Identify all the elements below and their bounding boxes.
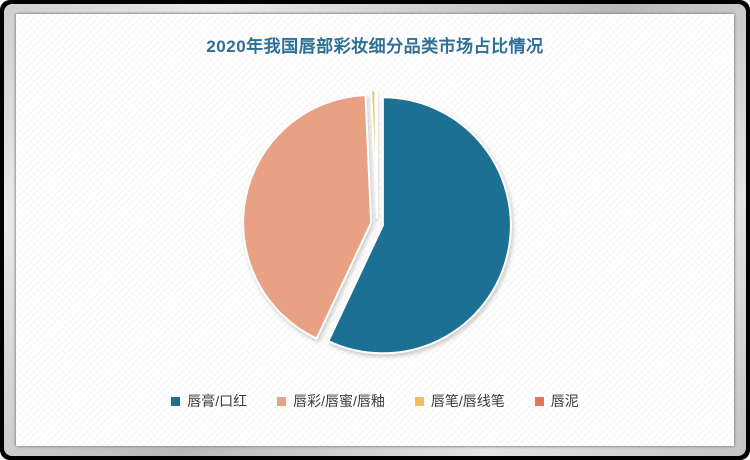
legend-swatch-icon (171, 397, 180, 406)
legend-swatch-icon (277, 397, 286, 406)
chart-legend: 唇膏/口红唇彩/唇蜜/唇釉唇笔/唇线笔唇泥 (16, 394, 734, 408)
chart-title: 2020年我国唇部彩妆细分品类市场占比情况 (16, 32, 734, 57)
legend-item-label: 唇膏/口红 (187, 394, 247, 408)
legend-swatch-icon (415, 397, 424, 406)
chart-canvas: 2020年我国唇部彩妆细分品类市场占比情况 唇膏/口红唇彩/唇蜜/唇釉唇笔/唇线… (16, 14, 734, 446)
legend-item-label: 唇笔/唇线笔 (431, 394, 505, 408)
pie-chart-area (16, 74, 734, 374)
legend-swatch-icon (535, 397, 544, 406)
legend-item-label: 唇彩/唇蜜/唇釉 (293, 394, 385, 408)
legend-item-label: 唇泥 (551, 394, 579, 408)
pie-chart-svg (195, 74, 555, 374)
legend-item[interactable]: 唇彩/唇蜜/唇釉 (277, 394, 385, 408)
legend-item[interactable]: 唇笔/唇线笔 (415, 394, 505, 408)
legend-item[interactable]: 唇膏/口红 (171, 394, 247, 408)
legend-item[interactable]: 唇泥 (535, 394, 579, 408)
image-frame-outer: 2020年我国唇部彩妆细分品类市场占比情况 唇膏/口红唇彩/唇蜜/唇釉唇笔/唇线… (0, 0, 750, 460)
pie-slice-group (243, 90, 511, 353)
